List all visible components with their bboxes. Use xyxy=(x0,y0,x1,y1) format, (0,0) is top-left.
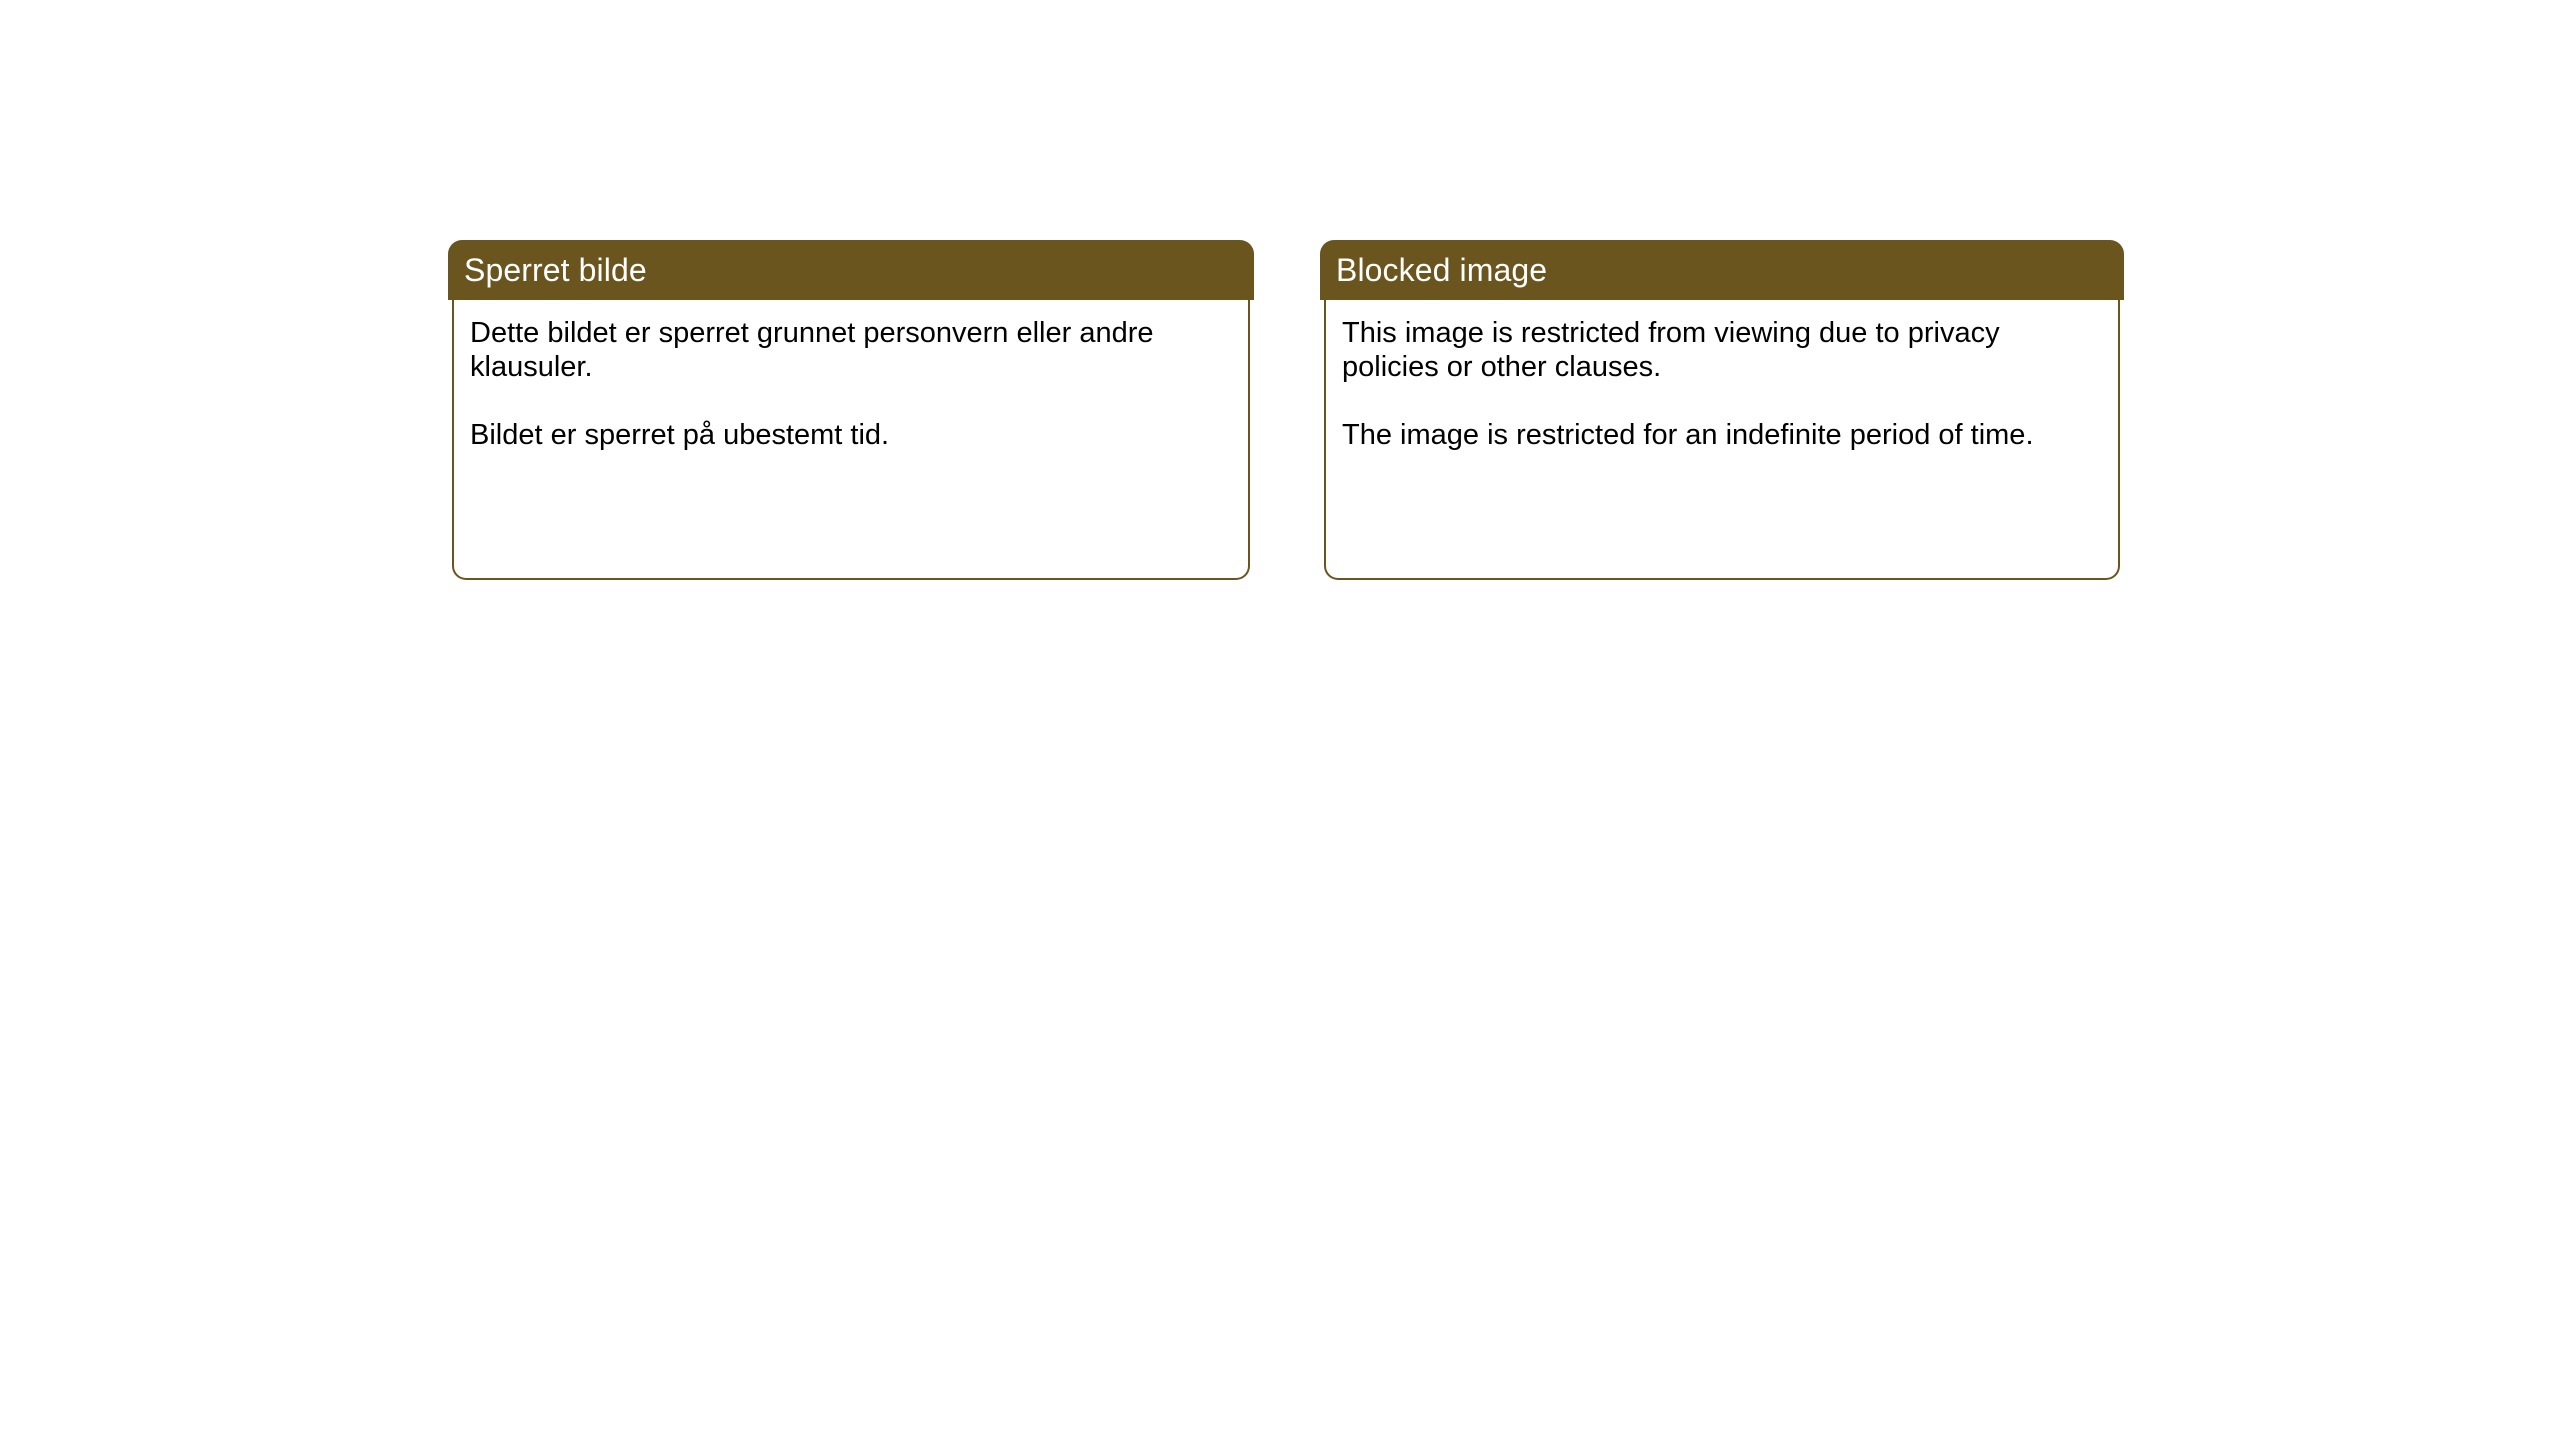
card-body-norwegian: Dette bildet er sperret grunnet personve… xyxy=(452,300,1250,580)
card-title-norwegian: Sperret bilde xyxy=(464,252,647,288)
card-header-norwegian: Sperret bilde xyxy=(448,240,1254,300)
page-root: Sperret bilde Dette bildet er sperret gr… xyxy=(0,0,2560,1440)
card-paragraph-privacy-english: This image is restricted from viewing du… xyxy=(1342,316,2102,384)
card-header-english: Blocked image xyxy=(1320,240,2124,300)
card-paragraph-privacy-norwegian: Dette bildet er sperret grunnet personve… xyxy=(470,316,1232,384)
paragraph-spacer xyxy=(1342,384,2102,418)
card-body-english: This image is restricted from viewing du… xyxy=(1324,300,2120,580)
paragraph-spacer xyxy=(470,384,1232,418)
card-paragraph-duration-english: The image is restricted for an indefinit… xyxy=(1342,418,2102,452)
blocked-image-notice-card-english: Blocked image This image is restricted f… xyxy=(1320,240,2124,580)
card-title-english: Blocked image xyxy=(1336,252,1547,288)
blocked-image-notice-card-norwegian: Sperret bilde Dette bildet er sperret gr… xyxy=(448,240,1254,580)
card-paragraph-duration-norwegian: Bildet er sperret på ubestemt tid. xyxy=(470,418,1232,452)
